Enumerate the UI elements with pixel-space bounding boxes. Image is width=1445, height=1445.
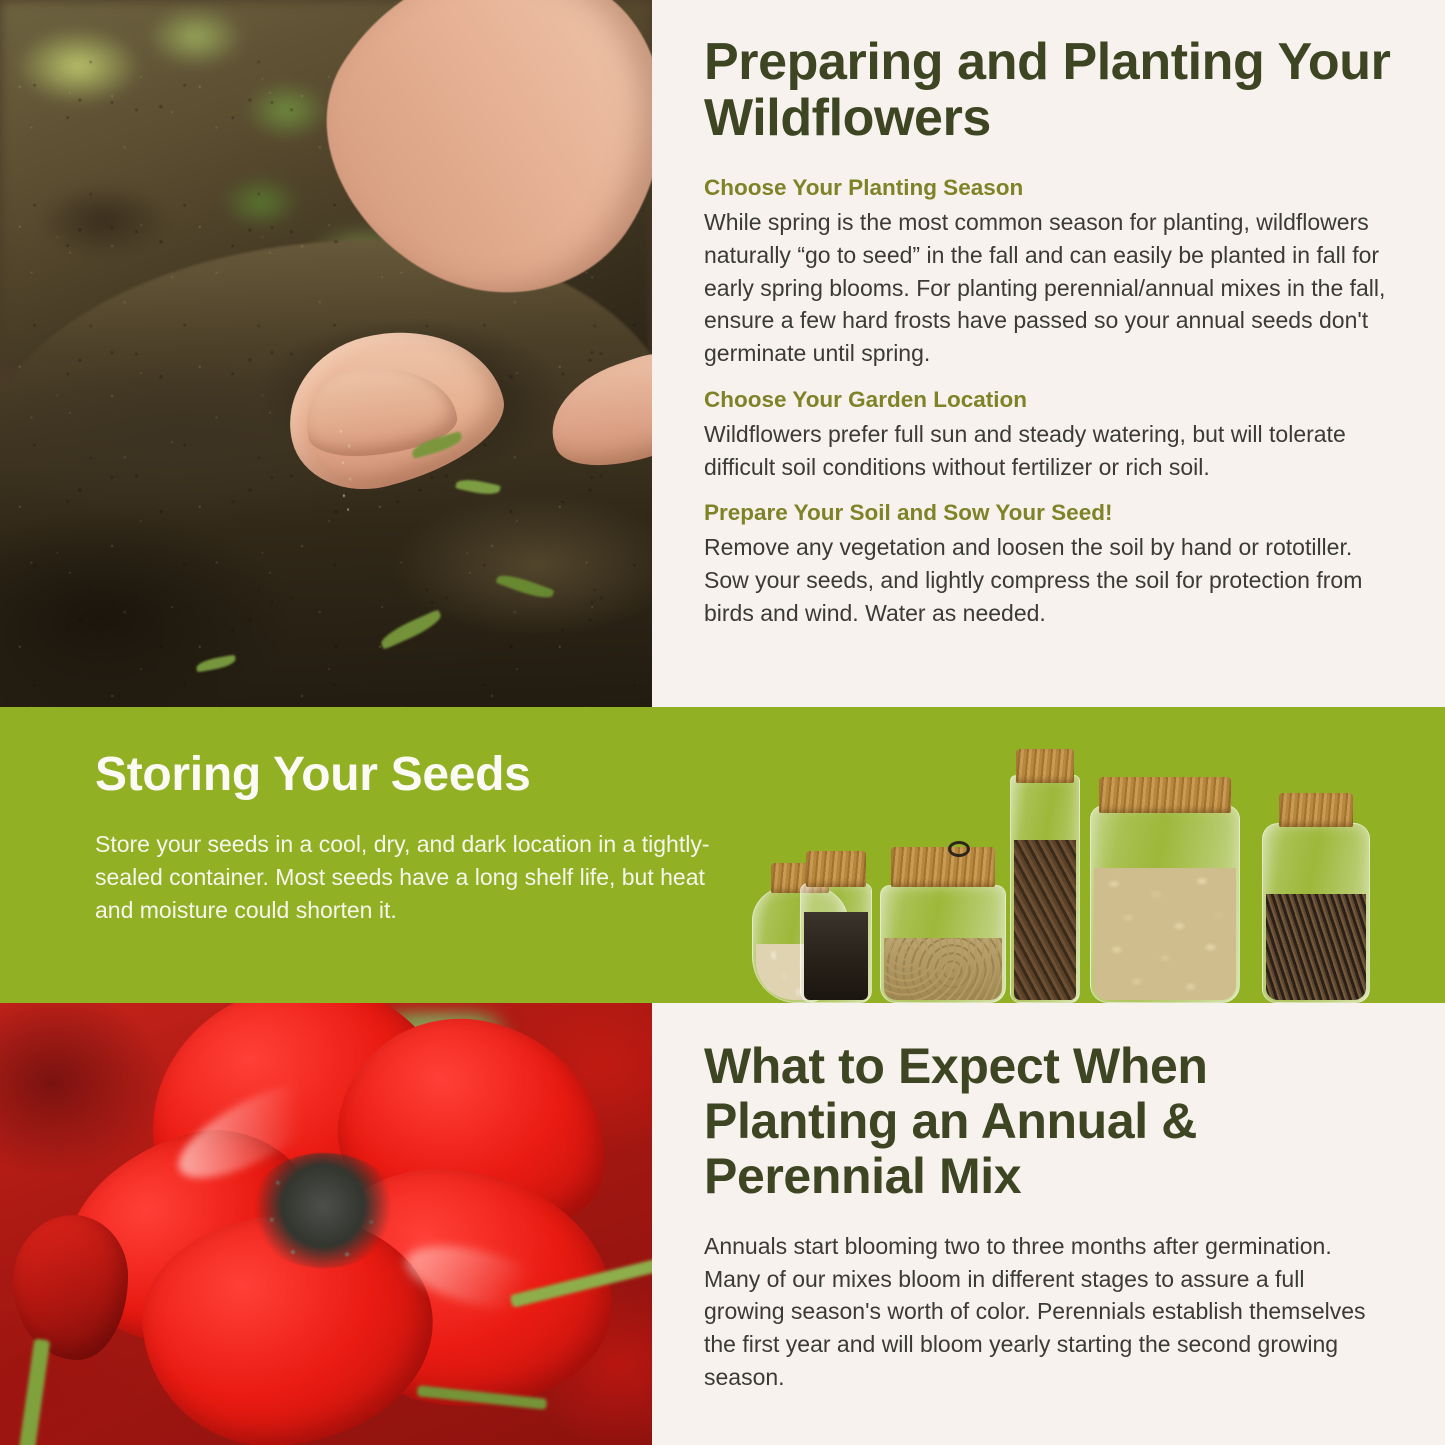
poppy-bud	[13, 1215, 128, 1360]
cork-lid-icon	[806, 851, 866, 887]
soil-photo-canvas	[0, 0, 652, 707]
jar-glass	[880, 885, 1006, 1003]
seed-jars-photo	[740, 707, 1445, 1003]
subheading-planting-season: Choose Your Planting Season	[704, 174, 1393, 202]
storing-text-column: Storing Your Seeds Store your seeds in a…	[0, 707, 740, 1003]
poppy-stamen-center	[248, 1153, 398, 1268]
section-preparing-and-planting: Preparing and Planting Your Wildflowers …	[0, 0, 1445, 707]
jar-wide-squat-tan-granules	[880, 847, 1006, 1003]
what-to-expect-body: Annuals start blooming two to three mont…	[704, 1230, 1391, 1393]
soil-planting-photo	[0, 0, 652, 707]
jar-glass	[800, 883, 872, 1003]
wildflower-planting-infographic: Preparing and Planting Your Wildflowers …	[0, 0, 1445, 1445]
body-garden-location: Wildflowers prefer full sun and steady w…	[704, 418, 1393, 483]
cork-lid-icon	[891, 847, 995, 887]
subheading-prepare-soil: Prepare Your Soil and Sow Your Seed!	[704, 499, 1393, 527]
jar-tall-tube-brown-seed	[1010, 749, 1080, 1003]
preparing-text-column: Preparing and Planting Your Wildflowers …	[652, 0, 1445, 707]
storing-body: Store your seeds in a cool, dry, and dar…	[95, 828, 715, 927]
jar-large-pumpkin-seeds	[1090, 777, 1240, 1003]
cork-lid-icon	[1279, 793, 1353, 827]
cork-lid-icon	[1016, 749, 1074, 783]
jar-medium-dark-striped-seed	[1262, 793, 1370, 1003]
poppy-stem	[18, 1338, 51, 1445]
what-to-expect-title: What to Expect When Planting an Annual &…	[704, 1039, 1391, 1204]
jar-tall-narrow-black-seed	[800, 851, 872, 1003]
subheading-garden-location: Choose Your Garden Location	[704, 386, 1393, 414]
falling-seeds	[333, 424, 359, 516]
jar-contents	[1094, 868, 1236, 1000]
jar-glass	[1262, 823, 1370, 1003]
page-title: Preparing and Planting Your Wildflowers	[704, 34, 1393, 146]
cork-lid-icon	[1099, 777, 1231, 813]
body-prepare-soil: Remove any vegetation and loosen the soi…	[704, 531, 1393, 629]
jar-contents	[1266, 894, 1366, 1000]
jar-contents	[884, 938, 1002, 1000]
block-prepare-soil: Prepare Your Soil and Sow Your Seed! Rem…	[704, 499, 1393, 629]
jar-wire-clasp-icon	[948, 841, 970, 857]
jar-glass	[1090, 805, 1240, 1003]
jar-contents	[1014, 840, 1076, 1000]
what-to-expect-text-column: What to Expect When Planting an Annual &…	[652, 1003, 1445, 1445]
section-what-to-expect: What to Expect When Planting an Annual &…	[0, 1003, 1445, 1445]
body-planting-season: While spring is the most common season f…	[704, 206, 1393, 369]
block-planting-season: Choose Your Planting Season While spring…	[704, 174, 1393, 369]
jar-glass	[1010, 775, 1080, 1003]
block-garden-location: Choose Your Garden Location Wildflowers …	[704, 386, 1393, 483]
storing-title: Storing Your Seeds	[95, 749, 740, 802]
section-storing-your-seeds: Storing Your Seeds Store your seeds in a…	[0, 707, 1445, 1003]
poppy-photo-canvas	[0, 1003, 652, 1445]
red-poppy-photo	[0, 1003, 652, 1445]
jar-contents	[804, 912, 868, 1000]
